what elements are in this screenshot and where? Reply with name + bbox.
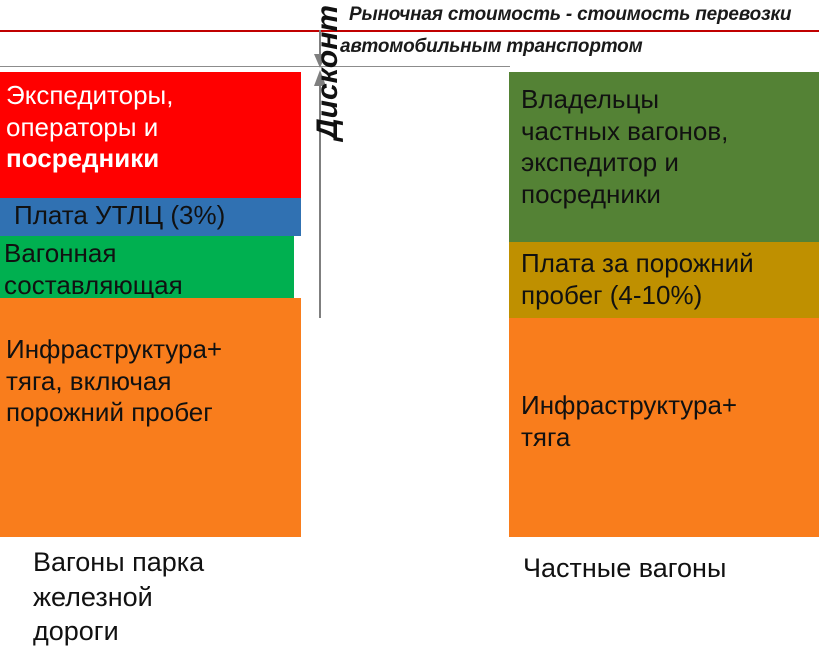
bar-segment-label: Плата за порожний пробег (4-10%) [509, 242, 819, 311]
divider-gray-rule-left [0, 66, 326, 67]
bar-segment-label-regular: Экспедиторы, операторы и [6, 80, 173, 142]
bar-segment-wagon-component: Вагонная составляющая [0, 236, 294, 298]
bar-segment-empty-run-fee: Плата за порожний пробег (4-10%) [509, 242, 819, 318]
bar-segment-label: Инфраструктура+ тяга, включая порожний п… [0, 298, 301, 429]
bar-segment-label-bold: посредники [6, 143, 159, 173]
bar-segment-label: Плата УТЛЦ (3%) [0, 198, 301, 232]
bar-segment-private-owners: Владельцы частных вагонов, экспедитор и … [509, 72, 819, 242]
bar-segment-infrastructure-traction-right: Инфраструктура+ тяга [509, 318, 819, 537]
bar-segment-infrastructure-traction-left: Инфраструктура+ тяга, включая порожний п… [0, 298, 301, 537]
bar-segment-intermediaries-left: Экспедиторы, операторы и посредники [0, 72, 301, 198]
discount-label: Дисконт [311, 0, 351, 140]
bar-segment-utlc-fee: Плата УТЛЦ (3%) [0, 198, 301, 236]
bar-segment-label: Инфраструктура+ тяга [509, 318, 819, 453]
diagram-canvas: Рыночная стоимость - стоимость перевозки… [0, 0, 819, 653]
bar-segment-label: Вагонная составляющая [0, 236, 294, 298]
divider-red-rule [0, 30, 819, 32]
bar-caption-private-wagons: Частные вагоны [523, 551, 819, 586]
chart-title-line-2: автомобильным транспортом [340, 36, 642, 58]
divider-gray-rule-right [326, 66, 510, 67]
bar-segment-label: Владельцы частных вагонов, экспедитор и … [509, 72, 819, 211]
bar-segment-label: Экспедиторы, операторы и посредники [0, 72, 301, 175]
bar-caption-railway-fleet: Вагоны парка железной дороги [33, 545, 303, 649]
chart-title-line-1: Рыночная стоимость - стоимость перевозки [349, 4, 791, 26]
